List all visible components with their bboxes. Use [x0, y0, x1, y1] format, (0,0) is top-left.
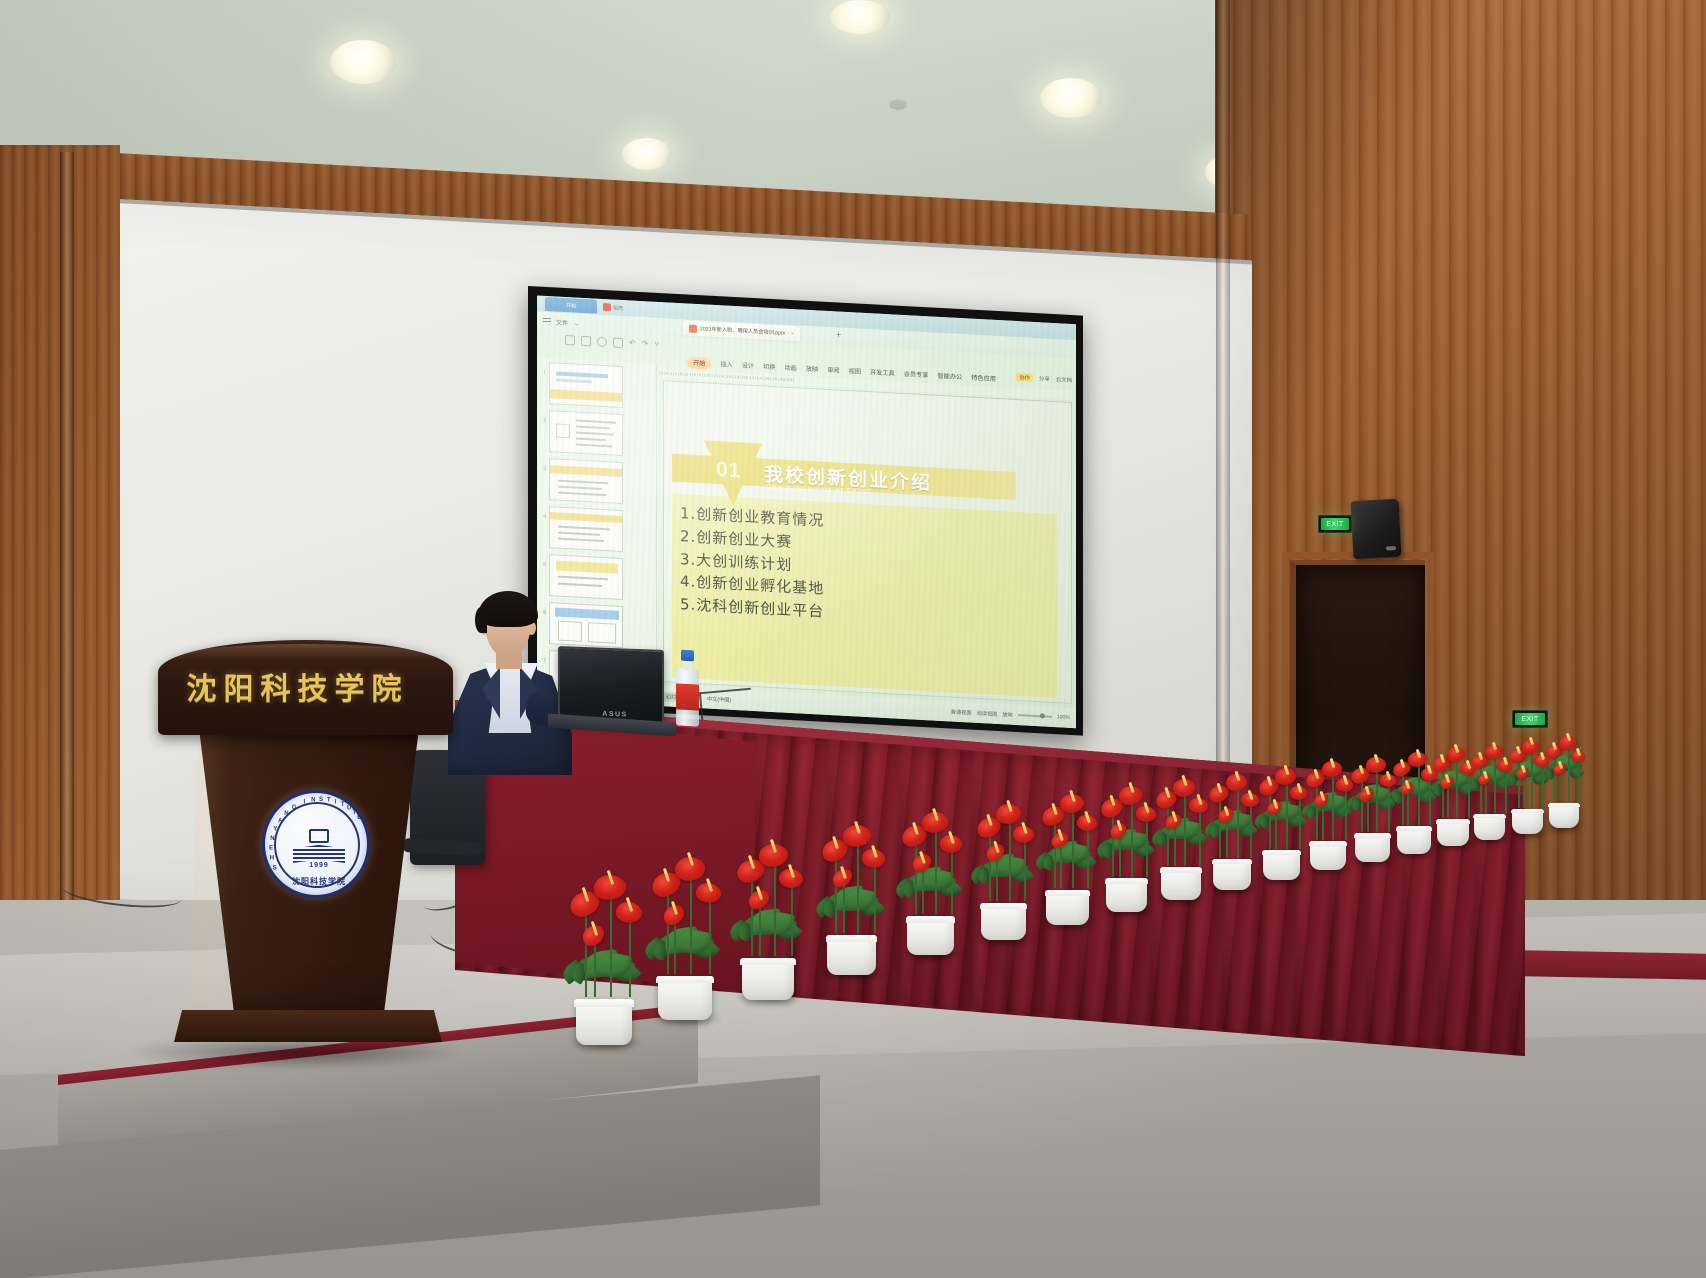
- flower-stem: [759, 905, 761, 956]
- thumbnail-number: 3: [539, 458, 546, 472]
- bottle-neck: [683, 660, 692, 670]
- podium-base: [174, 1010, 442, 1042]
- flower-stem: [774, 864, 776, 956]
- thumbnail-preview[interactable]: [549, 410, 623, 456]
- ribbon-tab-animation[interactable]: 动画: [785, 363, 797, 373]
- ppt-app-tab[interactable]: 开始: [545, 297, 597, 314]
- search-icon[interactable]: [613, 337, 623, 348]
- flower-pot: [576, 999, 632, 1045]
- ribbon-tab-view[interactable]: 视图: [849, 366, 861, 376]
- exit-sign: EXIT: [1512, 710, 1548, 728]
- smoke-detector: [890, 100, 906, 108]
- flower-stem: [709, 900, 711, 974]
- flower-stem: [1376, 771, 1378, 832]
- view-reading-button[interactable]: 阅读视图: [977, 709, 998, 717]
- wall-speaker: [1351, 499, 1402, 559]
- thumbnail-number: 2: [539, 410, 546, 424]
- emblem-book-graphic: [289, 827, 349, 867]
- ceiling-downlight: [1040, 78, 1102, 118]
- emblem-year: 1999: [265, 862, 370, 869]
- redo-icon[interactable]: ↷: [642, 339, 649, 348]
- thumbnail-number: 1: [539, 362, 546, 376]
- menu-file[interactable]: 文件: [556, 317, 568, 327]
- auditorium-photo: EXIT EXIT 开始 稻壳 文件 ⌄ 2021年新入职、聘用人员会培训.pp…: [0, 0, 1706, 1278]
- potted-plant: [568, 875, 678, 1045]
- exit-sign-label: EXIT: [1515, 713, 1544, 724]
- zoom-slider[interactable]: [1018, 714, 1052, 718]
- pptx-file-icon: [689, 324, 697, 332]
- exit-sign-label: EXIT: [1321, 518, 1349, 529]
- chevron-down-icon[interactable]: ⌄: [573, 318, 580, 327]
- ppt-file-tab-label: 2021年新入职、聘用人员会培训.pptx: [700, 325, 785, 337]
- graduation-cap-icon: [309, 829, 329, 843]
- podium-nameplate: 沈阳科技学院: [150, 664, 445, 708]
- flower-stem: [1299, 798, 1301, 849]
- hamburger-icon[interactable]: [543, 318, 551, 324]
- thumbnail-number: 5: [539, 554, 546, 568]
- podium-header-highlight: [164, 644, 446, 660]
- more-icon[interactable]: ˅: [654, 340, 659, 349]
- microphone-stand: [699, 688, 753, 720]
- open-book-icon: [293, 845, 345, 863]
- flower-stem: [1087, 829, 1089, 888]
- flower-stem: [690, 878, 692, 974]
- share-button[interactable]: 分享: [1039, 374, 1050, 383]
- flower-stem: [1286, 783, 1288, 849]
- wood-trim: [60, 152, 74, 952]
- ceiling-downlight: [330, 40, 396, 84]
- ribbon-tab-insert[interactable]: 插入: [720, 359, 732, 369]
- flower-stem: [1578, 760, 1580, 802]
- flower-stem: [791, 885, 793, 956]
- flower-stem: [1250, 805, 1252, 858]
- flower-stem: [843, 883, 845, 933]
- flower-stem: [1199, 811, 1201, 866]
- podium-highlight: [190, 730, 230, 1005]
- flower-stem: [629, 920, 631, 997]
- slide-section-number: 01: [716, 459, 741, 481]
- cloud-doc-button[interactable]: 云文档: [1056, 375, 1072, 384]
- flower-stem: [935, 830, 937, 914]
- flower-stem: [1184, 795, 1186, 866]
- print-icon[interactable]: [581, 335, 591, 346]
- emblem-chinese-name: 沈阳科技学院: [265, 876, 370, 887]
- ribbon-tab-member[interactable]: 会员专享: [904, 369, 929, 379]
- ribbon-tab-devtools[interactable]: 开发工具: [870, 367, 895, 377]
- flower-stem: [1009, 822, 1011, 901]
- presenter-hair: [478, 591, 538, 627]
- ribbon-tab-transition[interactable]: 切换: [763, 362, 775, 372]
- export-pdf-icon[interactable]: [597, 336, 607, 347]
- ceiling-downlight: [830, 0, 890, 34]
- exit-sign: EXIT: [1318, 515, 1352, 533]
- flower-stem: [1072, 811, 1074, 888]
- flower-stem: [1468, 773, 1470, 818]
- view-controls: 普通视图 阅读视图 放映 100%: [951, 708, 1076, 722]
- flower-stem: [1388, 785, 1390, 832]
- flower-stem: [1332, 775, 1334, 840]
- university-emblem: S H E N Y A N G I N S T I T U T E O F S: [262, 790, 370, 898]
- thumbnail-preview[interactable]: [549, 458, 623, 504]
- flower-stem: [1131, 803, 1133, 877]
- ppt-slide-canvas[interactable]: 01 我校创新创业介绍 Charming points of SYIST 1.创…: [663, 380, 1072, 704]
- bottle-label: [676, 683, 699, 710]
- new-tab-plus-icon[interactable]: +: [836, 329, 841, 339]
- slide-bullet-list: 1.创新创业教育情况 2.创新创业大赛 3.大创训练计划 4.创新创业孵化基地 …: [672, 494, 1057, 699]
- save-icon[interactable]: [565, 334, 575, 345]
- collab-button[interactable]: 协作: [1016, 373, 1033, 382]
- flower-stem: [922, 868, 924, 914]
- water-bottle: [676, 649, 699, 726]
- ribbon-tab-start[interactable]: 开始: [687, 356, 711, 369]
- laptop: ASUS: [558, 646, 664, 726]
- flower-stem: [996, 858, 998, 901]
- ceiling-downlight: [622, 138, 672, 170]
- flower-stem: [874, 865, 876, 933]
- flower-stem: [1024, 841, 1026, 901]
- flower-stem: [857, 844, 859, 933]
- flower-stem: [1345, 790, 1347, 840]
- flower-stem: [1237, 789, 1239, 858]
- flower-stem: [1505, 770, 1507, 813]
- close-icon[interactable]: ×: [791, 331, 794, 337]
- undo-icon[interactable]: ↶: [629, 338, 636, 347]
- podium: S H E N Y A N G I N S T I T U T E O F S: [150, 640, 460, 1060]
- view-normal-button[interactable]: 普通视图: [951, 708, 972, 716]
- thumbnail-preview[interactable]: [549, 362, 623, 408]
- ribbon-tab-smartoffice[interactable]: 智能办公: [938, 371, 963, 381]
- thumbnail-item[interactable]: 4: [539, 506, 654, 554]
- thumbnail-item[interactable]: 1: [539, 362, 654, 410]
- bottle-cap: [681, 650, 694, 662]
- flower-stem: [1146, 820, 1148, 877]
- flower-stem: [951, 850, 953, 914]
- ribbon-tab-slideshow[interactable]: 放映: [806, 364, 818, 374]
- ribbon-tab-featured[interactable]: 特色应用: [971, 373, 996, 383]
- ribbon-tab-review[interactable]: 审阅: [827, 365, 839, 375]
- thumbnail-number: 4: [539, 506, 546, 520]
- ppt-app-icon: [603, 303, 611, 311]
- view-slideshow-button[interactable]: 放映: [1002, 711, 1012, 719]
- ppt-docker-label: 稻壳: [613, 304, 623, 312]
- flower-stem: [594, 942, 596, 997]
- thumbnail-item[interactable]: 3: [539, 458, 654, 506]
- zoom-level: 100%: [1057, 714, 1070, 721]
- flower-stem: [1429, 779, 1431, 825]
- flower-stem: [585, 913, 587, 997]
- ribbon-tab-design[interactable]: 设计: [742, 360, 754, 370]
- thumbnail-item[interactable]: 2: [539, 410, 654, 458]
- flower-stem: [1542, 765, 1544, 808]
- thumbnail-preview[interactable]: [549, 506, 623, 552]
- flower-stem: [610, 897, 612, 997]
